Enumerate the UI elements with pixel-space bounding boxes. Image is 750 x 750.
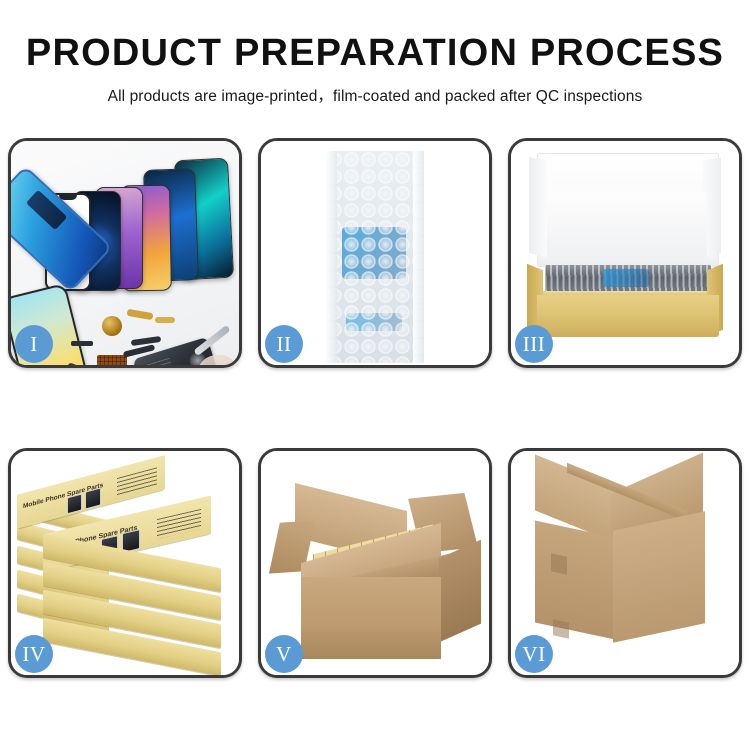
part-flex-cable-d-icon [155,317,175,323]
step-badge-6: VI [515,635,553,673]
step-badge-1: I [15,325,53,363]
bubble-wrap-pouch [326,151,424,363]
step-panel-3[interactable]: III [508,138,742,368]
step-badge-4: IV [15,635,53,673]
page-subtitle: All products are image-printed，film-coat… [0,84,750,106]
step-panel-4[interactable]: Mobile Phone Spare Parts Mobile Phone Sp… [8,448,242,678]
foam-insert [547,193,707,259]
part-speaker-icon [102,316,122,336]
page-title: PRODUCT PREPARATION PROCESS [0,34,750,74]
page-header: PRODUCT PREPARATION PROCESS All products… [0,0,750,106]
pouch-seal-left [326,151,337,363]
step-panel-5[interactable]: V [258,448,492,678]
part-camera-module-icon [97,355,127,365]
carton-front-panel [301,577,441,659]
pouch-seal-right [413,151,424,363]
step-badge-2: II [265,325,303,363]
carton-tab-upper [551,553,567,574]
box-front-panel [537,295,719,337]
process-steps-grid: I II [8,138,742,678]
sealed-carton-right-panel [613,511,705,643]
part-connector-icon [71,341,93,346]
step-badge-5: V [265,635,303,673]
step-panel-2[interactable]: II [258,138,492,368]
carton-tab-lower [553,619,569,638]
process-row-top: I II [8,138,742,368]
step-badge-3: III [515,325,553,363]
step-panel-6[interactable]: VI [508,448,742,678]
sealed-carton-left-panel [535,520,615,639]
step-panel-1[interactable]: I [8,138,242,368]
process-row-bottom: Mobile Phone Spare Parts Mobile Phone Sp… [8,448,742,678]
box-lid-flap-left [529,157,547,257]
bubble-outlines [326,151,424,363]
